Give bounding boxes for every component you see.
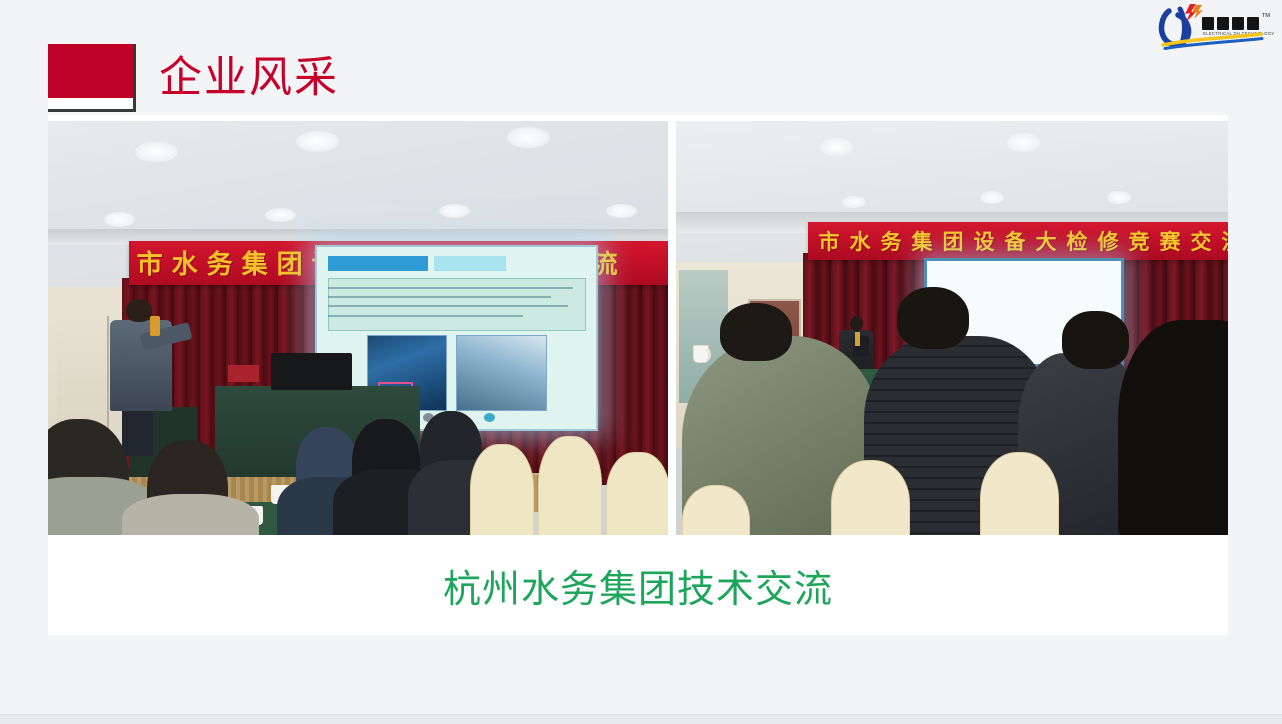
chair-cover xyxy=(606,452,668,535)
content-card: 市水务集团设备大检修竞赛交流 xyxy=(48,115,1228,635)
slide-text-line xyxy=(328,305,568,307)
page-title: 企业风采 xyxy=(159,57,339,100)
audience-head xyxy=(897,287,969,349)
slide-photo-right xyxy=(456,335,547,412)
equipment-box xyxy=(228,365,259,382)
photo-caption: 杭州水务集团技术交流 xyxy=(443,570,833,608)
audience-head xyxy=(720,303,792,361)
page-canvas: TM ELECTRICAL DH TECHNOLOGY 企业风采 xyxy=(0,0,1282,724)
downlight xyxy=(104,212,135,226)
caption-area: 杭州水务集团技术交流 xyxy=(48,545,1228,633)
chair-cover xyxy=(831,460,910,535)
slide-text-line xyxy=(328,296,551,298)
photo-gallery: 市水务集团设备大检修竞赛交流 xyxy=(48,121,1228,535)
event-banner: 市水务集团设备大检修竞赛交流 xyxy=(808,222,1228,259)
tea-cup xyxy=(693,345,709,364)
downlight xyxy=(439,204,470,218)
slide-text-line xyxy=(328,287,574,289)
chair-cover xyxy=(470,444,534,535)
event-banner-text: 市水务集团设备大检修竞赛交流 xyxy=(818,226,1228,256)
audience-head xyxy=(1062,311,1128,369)
monitor xyxy=(271,353,352,390)
chair-cover xyxy=(980,452,1059,535)
slide-text-line xyxy=(328,315,523,317)
svg-text:TM: TM xyxy=(1262,13,1270,19)
photo-presentation-left[interactable]: 市水务集团设备大检修竞赛交流 xyxy=(48,121,668,535)
downlight xyxy=(1107,191,1132,203)
photo-presentation-right[interactable]: 市水务集团设备大检修竞赛交流 xyxy=(676,121,1228,535)
slide-footer-icon xyxy=(484,413,495,422)
dianchi-keji-logo: TM ELECTRICAL DH TECHNOLOGY xyxy=(1154,2,1274,52)
slide-title-bar-secondary xyxy=(434,256,507,271)
page-header: 企业风采 xyxy=(48,43,339,113)
audience-shoulders xyxy=(122,494,258,535)
header-red-mark xyxy=(48,44,136,112)
audience-foreground xyxy=(1118,320,1228,535)
downlight xyxy=(820,138,853,157)
microphone xyxy=(855,332,861,346)
presenter-head xyxy=(126,299,152,322)
chair-cover xyxy=(538,436,602,535)
presenter-legs xyxy=(122,407,153,457)
downlight xyxy=(842,196,867,208)
slide-title-bar xyxy=(328,256,428,271)
microphone xyxy=(150,316,160,337)
downlight xyxy=(507,127,550,148)
footer-band xyxy=(0,715,1282,724)
downlight xyxy=(980,191,1005,203)
